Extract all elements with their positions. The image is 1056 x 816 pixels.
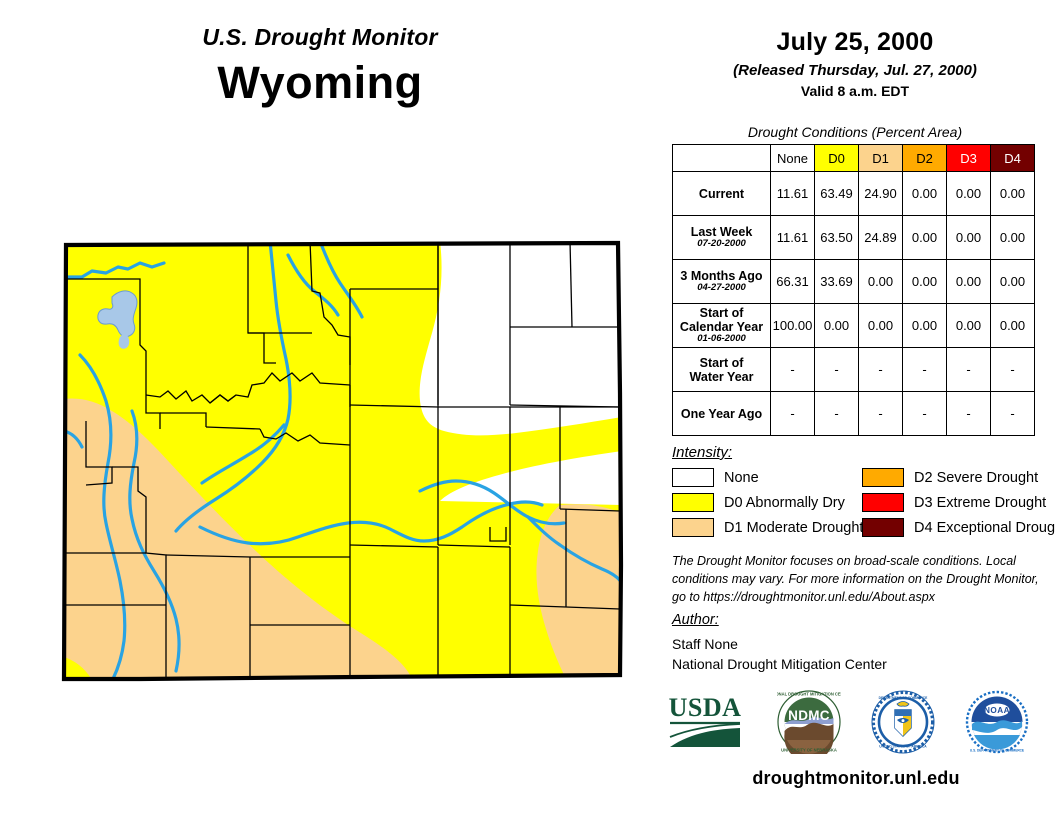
table-cell: 0.00 [903, 216, 947, 260]
row-label: Last Week07-20-2000 [673, 216, 771, 260]
table-cell: - [903, 392, 947, 436]
agency-logos: USDA NDMC NATIONAL DROUGHT MITIGATION CE… [662, 690, 1052, 760]
table-cell: 0.00 [903, 172, 947, 216]
table-cell: 66.31 [771, 260, 815, 304]
svg-text:USDA: USDA [669, 693, 742, 722]
legend-label: None [724, 470, 759, 486]
table-cell: 0.00 [815, 304, 859, 348]
legend-swatch-d4 [862, 518, 904, 537]
table-cell: 0.00 [903, 304, 947, 348]
table-cell: - [859, 348, 903, 392]
table-cell: 0.00 [859, 304, 903, 348]
author-label: Author: [672, 612, 719, 628]
row-label: Start ofWater Year [673, 348, 771, 392]
table-cell: 100.00 [771, 304, 815, 348]
table-col-header-none: None [771, 145, 815, 172]
release-date: (Released Thursday, Jul. 27, 2000) [660, 62, 1050, 79]
table-cell: 0.00 [947, 304, 991, 348]
table-cell: 11.61 [771, 216, 815, 260]
usda-logo: USDA [662, 690, 748, 757]
table-row: One Year Ago------ [673, 392, 1035, 436]
table-cell: 0.00 [991, 304, 1035, 348]
table-col-header-d3: D3 [947, 145, 991, 172]
drought-monitor-page: U.S. Drought Monitor Wyoming July 25, 20… [0, 0, 1056, 816]
legend-item-none: None [672, 468, 759, 487]
table-header-row: NoneD0D1D2D3D4 [673, 145, 1035, 172]
table-cell: 0.00 [991, 260, 1035, 304]
row-label-date: 04-27-2000 [673, 283, 770, 294]
author-org: National Drought Mitigation Center [672, 654, 1052, 674]
legend-swatch-d2 [862, 468, 904, 487]
table-cell: - [771, 348, 815, 392]
ndmc-logo: NDMC NATIONAL DROUGHT MITIGATION CENTER … [777, 690, 841, 759]
page-title: U.S. Drought Monitor [0, 24, 640, 51]
table-cell: - [947, 348, 991, 392]
table-cell: - [903, 348, 947, 392]
legend-label: D2 Severe Drought [914, 470, 1038, 486]
table-cell: 11.61 [771, 172, 815, 216]
legend-swatch-none [672, 468, 714, 487]
svg-text:NATIONAL DROUGHT MITIGATION CE: NATIONAL DROUGHT MITIGATION CENTER [777, 692, 841, 697]
state-name: Wyoming [0, 57, 640, 109]
svg-text:UNIVERSITY OF NEBRASKA: UNIVERSITY OF NEBRASKA [781, 748, 837, 753]
row-label-text: Start ofCalendar Year [673, 306, 770, 334]
valid-time: Valid 8 a.m. EDT [660, 83, 1050, 99]
table-cell: 0.00 [947, 260, 991, 304]
legend-item-d1: D1 Moderate Drought [672, 518, 863, 537]
date-header: July 25, 2000 (Released Thursday, Jul. 2… [660, 28, 1050, 99]
table-cell: 0.00 [991, 216, 1035, 260]
svg-text:NDMC: NDMC [788, 708, 830, 723]
table-cell: 63.50 [815, 216, 859, 260]
legend-label: D1 Moderate Drought [724, 520, 863, 536]
row-label-date: 01-06-2000 [673, 334, 770, 345]
legend-swatch-d3 [862, 493, 904, 512]
legend-item-d2: D2 Severe Drought [862, 468, 1038, 487]
table-col-header-d2: D2 [903, 145, 947, 172]
author-name: Staff None [672, 634, 1052, 654]
row-label: 3 Months Ago04-27-2000 [673, 260, 771, 304]
table-col-header-d0: D0 [815, 145, 859, 172]
legend-swatch-d0 [672, 493, 714, 512]
table-row: 3 Months Ago04-27-200066.3133.690.000.00… [673, 260, 1035, 304]
drought-conditions-table: NoneD0D1D2D3D4 Current11.6163.4924.900.0… [672, 144, 1035, 436]
table-corner-cell [673, 145, 771, 172]
legend-item-d3: D3 Extreme Drought [862, 493, 1046, 512]
report-date: July 25, 2000 [660, 28, 1050, 57]
row-label: One Year Ago [673, 392, 771, 436]
table-col-header-d4: D4 [991, 145, 1035, 172]
row-label-date: 07-20-2000 [673, 239, 770, 250]
noaa-logo: NOAA U.S. DEPARTMENT OF COMMERCE [965, 690, 1029, 759]
table-body: Current11.6163.4924.900.000.000.00Last W… [673, 172, 1035, 436]
legend-label: D4 Exceptional Drought [914, 520, 1056, 536]
svg-text:U.S. DEPARTMENT OF COMMERCE: U.S. DEPARTMENT OF COMMERCE [970, 749, 1024, 753]
table-cell: - [859, 392, 903, 436]
legend-item-d0: D0 Abnormally Dry [672, 493, 845, 512]
title-block: U.S. Drought Monitor Wyoming [0, 24, 640, 109]
row-label: Start ofCalendar Year01-06-2000 [673, 304, 771, 348]
table-caption: Drought Conditions (Percent Area) [660, 124, 1050, 140]
legend-swatch-d1 [672, 518, 714, 537]
legend-label: D0 Abnormally Dry [724, 495, 845, 511]
table-cell: 0.00 [903, 260, 947, 304]
table-cell: 0.00 [947, 172, 991, 216]
legend-label: D3 Extreme Drought [914, 495, 1046, 511]
row-label-text: One Year Ago [673, 407, 770, 421]
svg-text:DEPARTMENT OF COMMERCE: DEPARTMENT OF COMMERCE [879, 696, 928, 700]
table-cell: 24.90 [859, 172, 903, 216]
svg-text:NOAA: NOAA [984, 706, 1010, 715]
svg-text:UNITED STATES OF AMERICA: UNITED STATES OF AMERICA [879, 745, 927, 749]
table-cell: - [991, 348, 1035, 392]
table-col-header-d1: D1 [859, 145, 903, 172]
table-row: Current11.6163.4924.900.000.000.00 [673, 172, 1035, 216]
table-cell: 0.00 [947, 216, 991, 260]
website-url[interactable]: droughtmonitor.unl.edu [660, 768, 1052, 789]
row-label-text: 3 Months Ago [673, 269, 770, 283]
usdc-seal-logo: DEPARTMENT OF COMMERCE UNITED STATES OF … [871, 690, 935, 759]
table-cell: 63.49 [815, 172, 859, 216]
row-label-text: Current [673, 187, 770, 201]
table-cell: 0.00 [991, 172, 1035, 216]
table-cell: 24.89 [859, 216, 903, 260]
table-cell: - [991, 392, 1035, 436]
table-cell: 33.69 [815, 260, 859, 304]
table-row: Start ofCalendar Year01-06-2000100.000.0… [673, 304, 1035, 348]
table-cell: - [815, 348, 859, 392]
table-cell: - [947, 392, 991, 436]
table-cell: - [771, 392, 815, 436]
wyoming-drought-map [20, 205, 640, 700]
row-label-text: Last Week [673, 225, 770, 239]
table-cell: - [815, 392, 859, 436]
table-row: Last Week07-20-200011.6163.5024.890.000.… [673, 216, 1035, 260]
row-label-text: Start ofWater Year [673, 356, 770, 384]
table-cell: 0.00 [859, 260, 903, 304]
row-label: Current [673, 172, 771, 216]
legend-title: Intensity: [672, 444, 732, 461]
legend-item-d4: D4 Exceptional Drought [862, 518, 1056, 537]
disclaimer-text: The Drought Monitor focuses on broad-sca… [672, 553, 1052, 606]
table-row: Start ofWater Year------ [673, 348, 1035, 392]
author-info: Staff None National Drought Mitigation C… [672, 634, 1052, 675]
